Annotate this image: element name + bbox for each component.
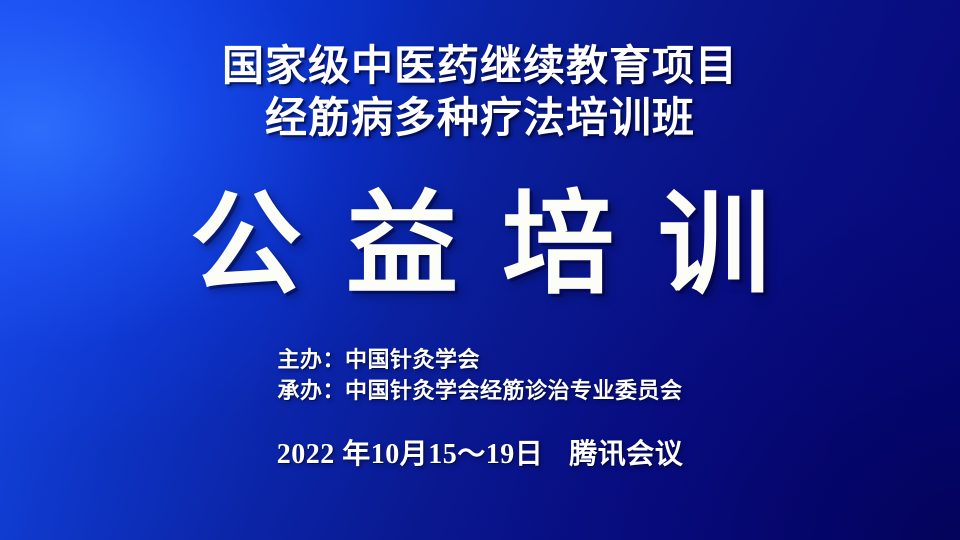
headline-gongyi-peixun: 公益培训 [0, 184, 960, 306]
program-title: 国家级中医药继续教育项目 经筋病多种疗法培训班 [0, 40, 960, 144]
program-title-line-2: 经筋病多种疗法培训班 [0, 92, 960, 144]
schedule-line: 2022 年10月15～19日腾讯会议 [0, 436, 960, 474]
poster-content: 国家级中医药继续教育项目 经筋病多种疗法培训班 公益培训 主办：中国针灸学会 承… [0, 0, 960, 540]
program-title-line-1: 国家级中医药继续教育项目 [0, 40, 960, 92]
training-poster: 国家级中医药继续教育项目 经筋病多种疗法培训班 公益培训 主办：中国针灸学会 承… [0, 0, 960, 540]
schedule-date: 2022 年10月15～19日 [277, 439, 544, 470]
schedule-platform: 腾讯会议 [569, 439, 683, 470]
organizer-host-line: 主办：中国针灸学会 [277, 344, 682, 375]
organizer-block: 主办：中国针灸学会 承办：中国针灸学会经筋诊治专业委员会 [0, 344, 960, 406]
organizer-coordinator-line: 承办：中国针灸学会经筋诊治专业委员会 [277, 375, 682, 406]
organizer-list: 主办：中国针灸学会 承办：中国针灸学会经筋诊治专业委员会 [277, 344, 682, 406]
